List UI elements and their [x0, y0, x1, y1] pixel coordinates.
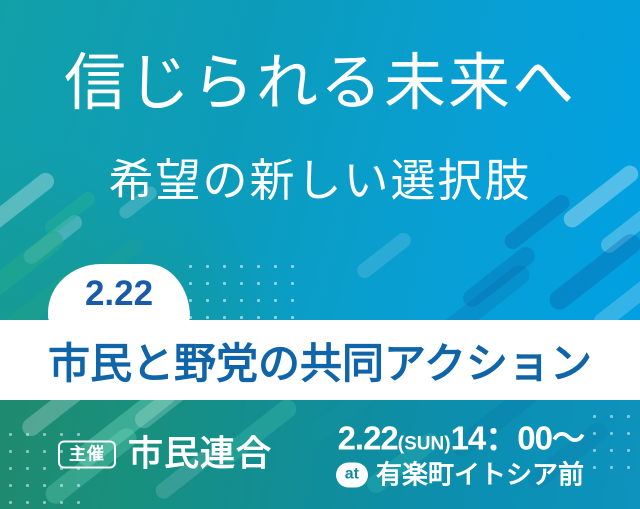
schedule-block: 2.22 (SUN) 14：00〜 at 有楽町イトシア前	[336, 421, 584, 488]
venue-name: 有楽町イトシア前	[376, 462, 584, 488]
stripe-diagonal	[598, 204, 640, 256]
datetime-line: 2.22 (SUN) 14：00〜	[336, 421, 584, 454]
venue-line: at 有楽町イトシア前	[336, 462, 584, 488]
stripe-diagonal	[546, 230, 640, 313]
poster-subheadline: 希望の新しい選択肢	[0, 158, 640, 203]
event-date: 2.22	[338, 421, 398, 454]
poster-headline: 信じられる未来へ	[0, 52, 640, 114]
hero-dot-grid	[182, 258, 306, 320]
event-time: 14：00〜	[451, 421, 584, 454]
event-poster: 信じられる未来へ 希望の新しい選択肢 2.22 市民と野党の共同アクション 主催	[0, 0, 640, 509]
host-block: 主催 市民連合	[58, 437, 272, 472]
banner-section: 市民と野党の共同アクション	[0, 320, 640, 400]
date-badge-label: 2.22	[48, 276, 190, 311]
stripe-diagonal	[427, 261, 534, 320]
stripe-diagonal	[354, 230, 414, 281]
footer-section: 主催 市民連合 2.22 (SUN) 14：00〜 at 有楽町イトシア前	[0, 400, 640, 509]
event-day-of-week: (SUN)	[398, 434, 451, 453]
at-pill-label: at	[336, 463, 368, 488]
host-label: 主催	[58, 441, 116, 469]
host-name: 市民連合	[128, 437, 272, 472]
stripe-diagonal	[590, 276, 640, 320]
stripe-diagonal	[460, 243, 539, 310]
banner-title: 市民と野党の共同アクション	[48, 330, 592, 391]
